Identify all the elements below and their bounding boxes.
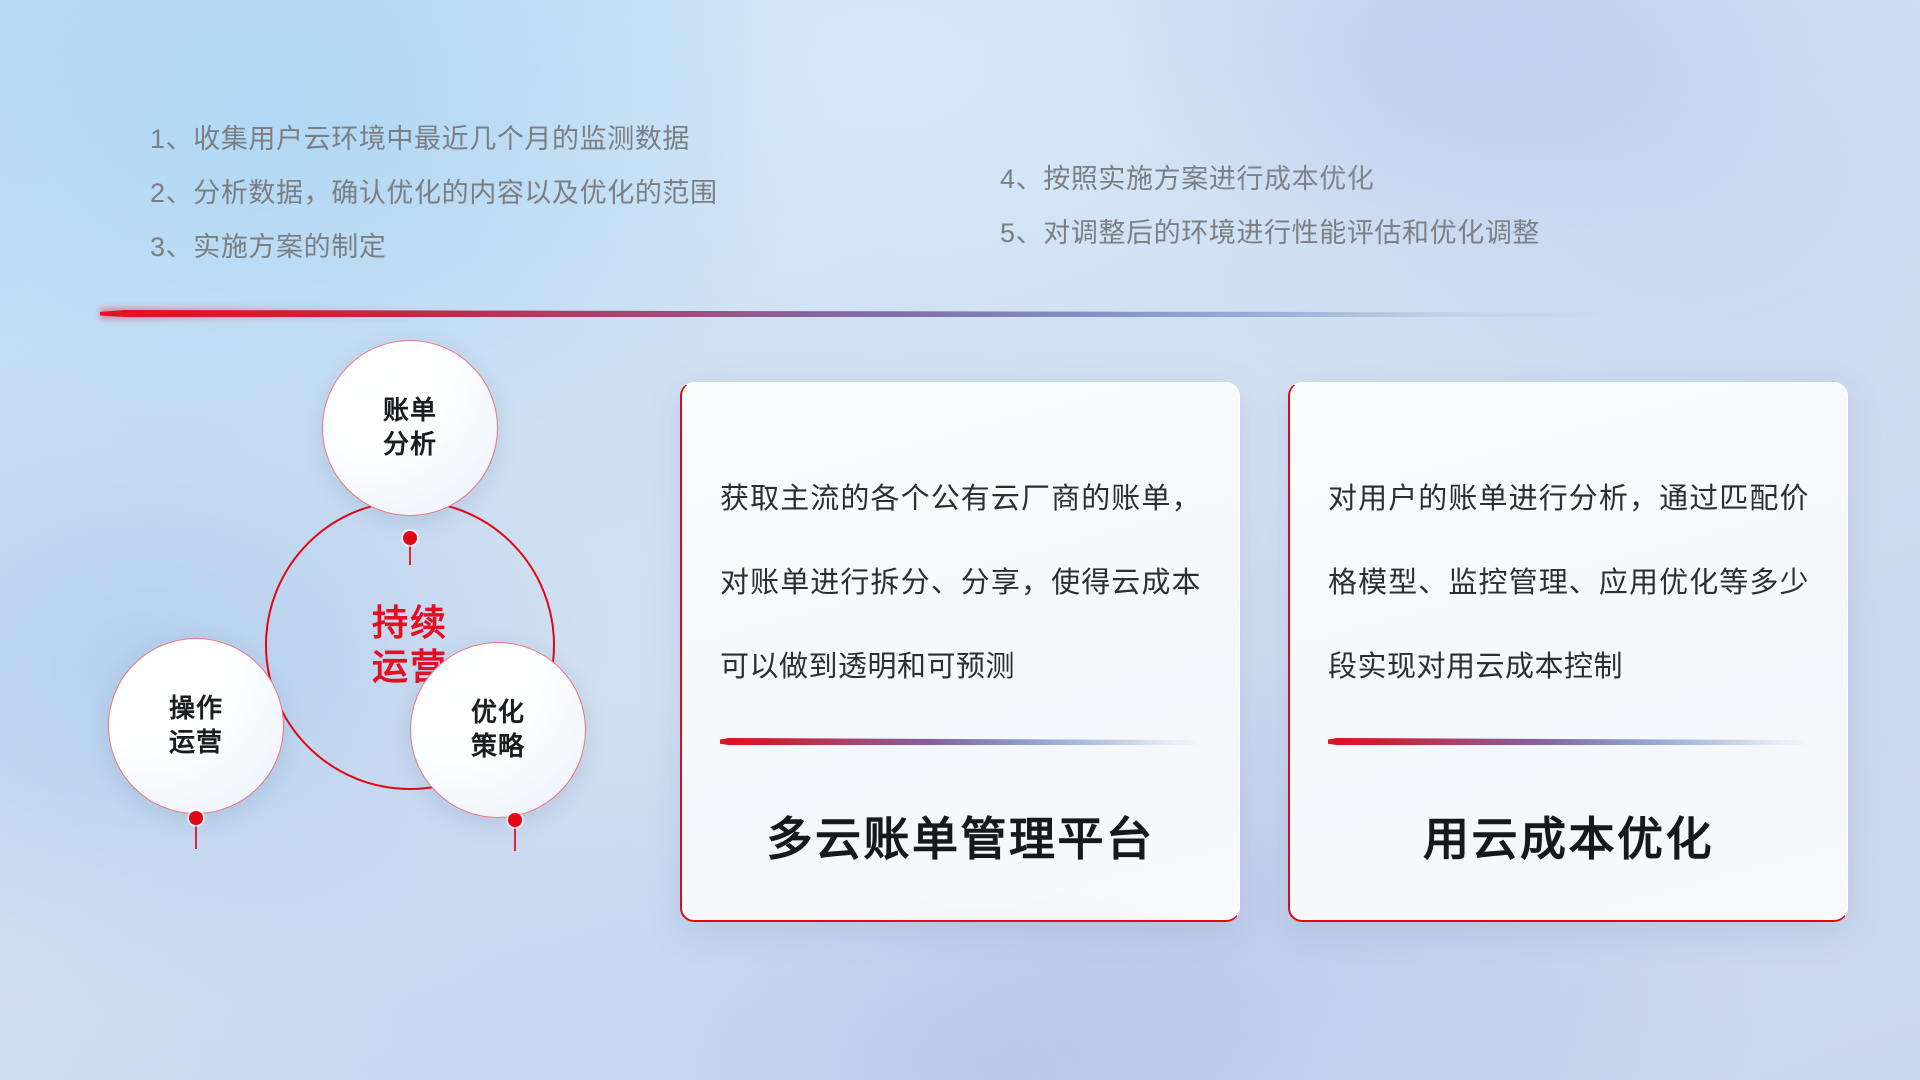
divider-line: [100, 310, 1620, 317]
steps-list-left: 1、收集用户云环境中最近几个月的监测数据 2、分析数据，确认优化的内容以及优化的…: [150, 112, 718, 274]
step-item-5: 5、对调整后的环境进行性能评估和优化调整: [1000, 206, 1540, 260]
slide-canvas: 1、收集用户云环境中最近几个月的监测数据 2、分析数据，确认优化的内容以及优化的…: [0, 0, 1920, 1080]
bubble-3-line-1: 优化: [471, 696, 525, 730]
step-item-3: 3、实施方案的制定: [150, 220, 718, 274]
diagram-bubble-operation[interactable]: 操作 运营: [108, 638, 284, 814]
diagram-node-dot-bottom-right: [508, 813, 522, 827]
feature-card-cloud-cost-optimization[interactable]: 对用户的账单进行分析，通过匹配价格模型、监控管理、应用优化等多少段实现对用云成本…: [1288, 382, 1848, 922]
feature-card-multi-cloud-bill-platform[interactable]: 获取主流的各个公有云厂商的账单，对账单进行拆分、分享，使得云成本可以做到透明和可…: [680, 382, 1240, 922]
diagram-node-dot-bottom-left: [189, 811, 203, 825]
card-2-description: 对用户的账单进行分析，通过匹配价格模型、监控管理、应用优化等多少段实现对用云成本…: [1328, 457, 1809, 709]
section-divider: [100, 308, 1620, 320]
diagram-stem-top: [409, 543, 411, 565]
steps-list-right: 4、按照实施方案进行成本优化 5、对调整后的环境进行性能评估和优化调整: [1000, 152, 1540, 260]
card-1-accent-rule: [720, 738, 1203, 745]
card-2-title: 用云成本优化: [1290, 803, 1847, 869]
card-1-description: 获取主流的各个公有云厂商的账单，对账单进行拆分、分享，使得云成本可以做到透明和可…: [720, 457, 1201, 709]
diagram-stem-bottom-right: [514, 825, 516, 851]
card-1-title: 多云账单管理平台: [682, 803, 1239, 869]
step-item-1: 1、收集用户云环境中最近几个月的监测数据: [150, 112, 718, 166]
center-label-line-1: 持续: [372, 601, 448, 645]
bubble-1-line-1: 账单: [383, 394, 437, 428]
step-item-4: 4、按照实施方案进行成本优化: [1000, 152, 1540, 206]
bubble-2-line-1: 操作: [169, 692, 223, 726]
bubble-3-line-2: 策略: [471, 730, 525, 764]
diagram-node-dot-top: [403, 531, 417, 545]
continuous-operation-diagram: 持续 运营 账单 分析 操作 运营 优化 策略: [90, 350, 650, 910]
step-item-2: 2、分析数据，确认优化的内容以及优化的范围: [150, 166, 718, 220]
diagram-bubble-optimization-strategy[interactable]: 优化 策略: [410, 642, 586, 818]
diagram-stem-bottom-left: [195, 823, 197, 849]
card-2-accent-rule: [1328, 738, 1811, 745]
bubble-1-line-2: 分析: [383, 428, 437, 462]
diagram-bubble-bill-analysis[interactable]: 账单 分析: [322, 340, 498, 516]
bubble-2-line-2: 运营: [169, 726, 223, 760]
